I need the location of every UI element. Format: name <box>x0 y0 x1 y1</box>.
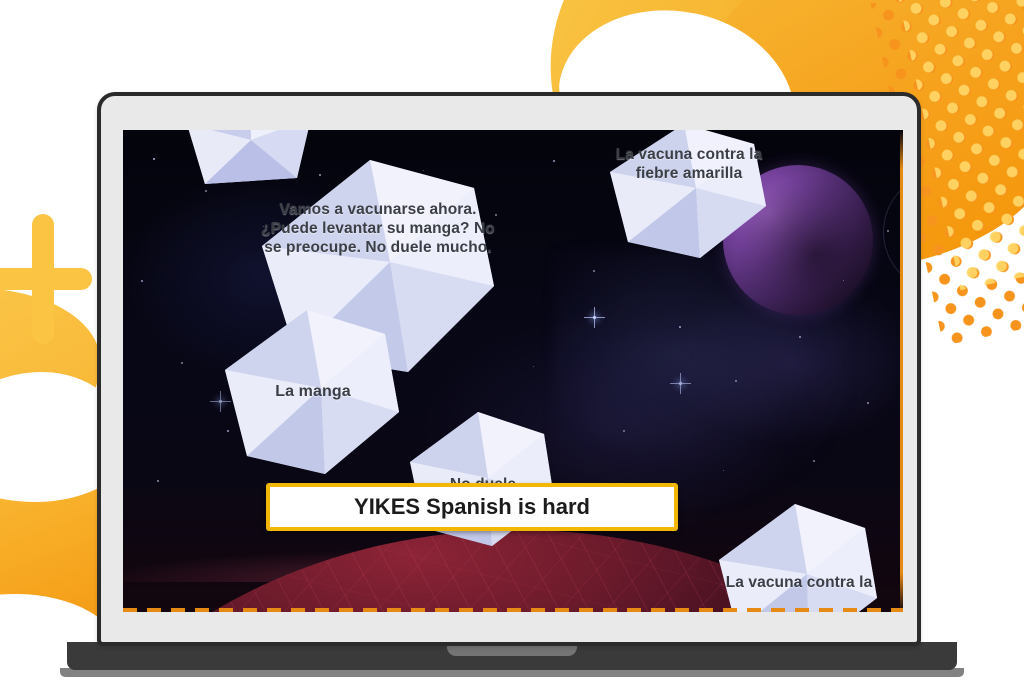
star <box>679 326 681 328</box>
star <box>593 270 595 272</box>
danger-line <box>123 608 903 612</box>
star <box>533 366 534 367</box>
star <box>843 280 844 281</box>
laptop-lid: Vamos a vacunarse ahora. ¿Puede levantar… <box>97 92 921 646</box>
star <box>181 362 183 364</box>
star <box>157 480 159 482</box>
game-screen[interactable]: Vamos a vacunarse ahora. ¿Puede levantar… <box>123 130 903 612</box>
star-bright <box>593 316 596 319</box>
asteroid-sleeve[interactable]: La manga <box>223 308 403 478</box>
star-bright <box>219 400 222 403</box>
star <box>867 402 869 404</box>
star <box>813 460 815 462</box>
star <box>553 160 555 162</box>
star <box>153 158 155 160</box>
star <box>141 280 143 282</box>
star <box>799 336 801 338</box>
star <box>735 380 737 382</box>
star <box>723 470 724 471</box>
asteroid-vaccine-against[interactable]: La vacuna contra la <box>717 502 881 612</box>
answer-input-value: YIKES Spanish is hard <box>354 494 590 520</box>
orange-blob-left-upper <box>0 288 100 478</box>
asteroid-yellow-fever-vaccine[interactable]: La vacuna contra la fiebre amarilla <box>608 130 770 262</box>
answer-input[interactable]: YIKES Spanish is hard <box>266 483 678 531</box>
page-root: Vamos a vacunarse ahora. ¿Puede levantar… <box>0 0 1024 683</box>
star-bright <box>679 382 682 385</box>
star <box>887 230 889 232</box>
star <box>623 430 625 432</box>
screen-edge-accent-right <box>900 130 903 612</box>
plus-icon <box>0 214 100 344</box>
